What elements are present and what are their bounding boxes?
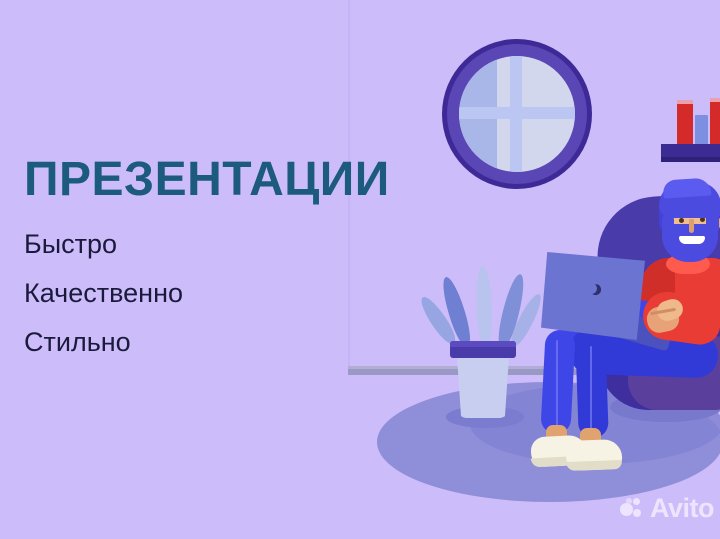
avito-dot-tiny (626, 498, 632, 504)
person-shin-right (575, 336, 609, 439)
advertisement-banner: ПРЕЗЕНТАЦИИ Быстро Качественно Стильно A… (0, 0, 720, 539)
benefit-item-2: Качественно (24, 280, 183, 307)
plant-pot-rim-top (450, 341, 516, 347)
window-mullion-horizontal (459, 107, 575, 119)
avito-dot-small-bottom (633, 509, 641, 517)
person-eye-left (679, 218, 684, 223)
avito-dot-large (620, 503, 633, 516)
benefit-item-1: Быстро (24, 231, 117, 258)
avito-wordmark: Avito (650, 495, 714, 522)
avito-watermark: Avito (620, 495, 714, 522)
book-red-right (710, 98, 720, 144)
jeans-seam-left (556, 340, 558, 428)
page-title: ПРЕЗЕНТАЦИИ (24, 156, 390, 204)
bookshelf-edge (661, 157, 720, 162)
person-shin-left (540, 329, 575, 434)
avito-logo-icon (620, 498, 644, 520)
book-red-left (677, 100, 693, 144)
person-hair-swoop (662, 177, 711, 198)
jeans-seam-right (590, 346, 592, 430)
person-smile (679, 236, 705, 244)
person-nose (689, 219, 694, 233)
book-blue-middle (695, 115, 708, 144)
book-cap (677, 100, 693, 104)
book-cap (710, 98, 720, 102)
plant-pot-body (457, 356, 509, 418)
benefit-item-3: Стильно (24, 329, 131, 356)
avito-dot-small-top (633, 498, 640, 505)
round-window-glass (459, 56, 575, 172)
laptop-lid (541, 252, 645, 340)
bookshelf (661, 144, 720, 157)
